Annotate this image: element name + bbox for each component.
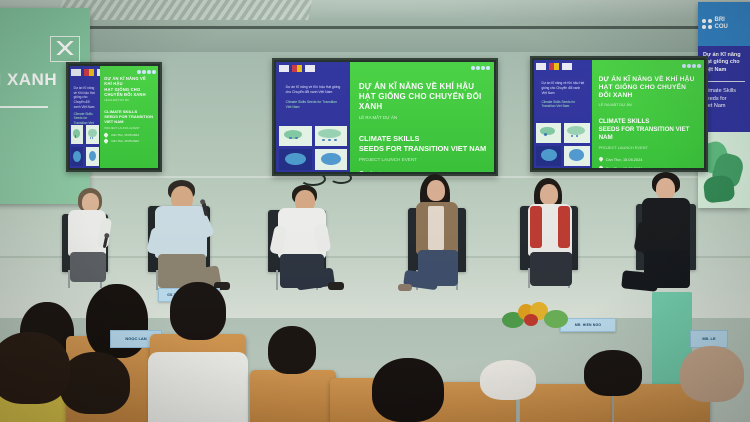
display-screen-1: Dự án Kĩ năng về Khí hậu Hạt giống cho C… — [66, 62, 162, 172]
cable — [300, 172, 326, 186]
slide1-title-en-2: SEEDS FOR TRANSITION VIET NAM — [104, 114, 154, 124]
banner-right-en-1: Climate Skills — [703, 88, 745, 95]
banner-right-en-2: Seeds for — [703, 96, 745, 103]
slide3-title-vi-2: HẠT GIỐNG CHO CHUYỂN ĐỔI XANH — [599, 84, 699, 100]
pin-icon — [358, 170, 365, 172]
wall-seam — [0, 176, 750, 178]
nameplate-audience-1-text: NGỌC LAN — [125, 337, 146, 342]
slide2-title-en-2: SEEDS FOR TRANSITION VIET NAM — [359, 144, 488, 154]
audience-chair — [250, 370, 336, 422]
slide3-title-vi-1: DỰ ÁN KĨ NĂNG VỀ KHÍ HẬU — [599, 76, 699, 84]
british-council-dots-icon — [702, 19, 712, 29]
slide1-card-vi: Dự án Kĩ năng về Khí hậu Hạt giống cho C… — [74, 86, 97, 109]
audience-head — [268, 326, 316, 374]
partner-logo-icon — [50, 36, 80, 62]
slide2-card-vi: Dự án Kĩ năng về Khí hậu Hạt giống cho C… — [286, 85, 341, 95]
banner-right-en-3: Viet Nam — [703, 103, 745, 110]
audience-head — [480, 360, 536, 400]
soffit-shadow-line — [60, 26, 720, 29]
slide2-title-en-1: CLIMATE SKILLS — [359, 134, 488, 144]
slide2-date-1: Cần Thơ, 15.05.2024 — [367, 171, 411, 172]
bc-line-1: BRI — [715, 17, 728, 24]
slide3-card-en: Climate Skills Seeds for Transition Viet… — [541, 100, 584, 109]
slide1-date-1: Cần Thơ, 15.05.2024 — [111, 133, 138, 137]
slide3-date-2: Cần Thơ, 15.05.2024 — [606, 166, 643, 168]
audience-head — [170, 282, 226, 340]
audience-head — [372, 358, 444, 422]
slide3-date-1: Cần Thơ, 15.05.2024 — [606, 157, 643, 162]
display-screen-3: Dự án Kĩ năng về Khí hậu Hạt giống cho C… — [530, 56, 708, 172]
slide2-subtitle-vi: LỄ RA MẮT DỰ ÁN — [359, 115, 488, 120]
audience-foreground: NGỌC LAN MS. LE — [0, 272, 750, 422]
slide2-subtitle-en: PROJECT LAUNCH EVENT — [359, 157, 488, 162]
slide1-date-2: Cần Thơ, 15.05.2024 — [111, 139, 138, 143]
audience-body — [148, 352, 248, 422]
slide1-title-vi-2: HẠT GIỐNG CHO CHUYỂN ĐỔI XANH — [104, 87, 154, 97]
pin-icon — [598, 156, 604, 162]
banner-left-headline: ĐỔI XANH — [0, 70, 57, 90]
british-council-wordmark: BRI COU — [715, 17, 728, 30]
slide1-subtitle-en: PROJECT LAUNCH EVENT — [104, 126, 154, 130]
pin-icon — [598, 165, 604, 168]
slide3-title-en-1: CLIMATE SKILLS — [599, 118, 699, 126]
audience-head — [680, 346, 744, 402]
slide1-title-vi-1: DỰ ÁN KĨ NĂNG VỀ KHÍ HẬU — [104, 76, 154, 86]
bc-line-2: COU — [715, 24, 728, 31]
british-council-logo: BRI COU — [698, 2, 750, 46]
nameplate-audience-2-text: MS. LE — [702, 337, 715, 342]
slide2-card-en: Climate Skills Seeds for Transition Viet… — [286, 100, 341, 110]
slide2-title-vi-2: HẠT GIỐNG CHO CHUYỂN ĐỔI XANH — [359, 92, 488, 112]
audience-head — [584, 350, 642, 396]
slide3-subtitle-en: PROJECT LAUNCH EVENT — [599, 145, 699, 150]
conference-photo: ĐỔI XANH AM BRI COU Dự án Kĩ năng Hạt gi… — [0, 0, 750, 422]
banner-right-vi-2: Hạt giống cho — [703, 59, 745, 66]
slide2-title-vi-1: DỰ ÁN KĨ NĂNG VỀ KHÍ HẬU — [359, 82, 488, 92]
banner-left-rule — [0, 106, 48, 108]
audience-head — [60, 352, 130, 414]
slide1-subtitle-vi: LỄ RA MẮT DỰ ÁN — [104, 98, 154, 102]
audience-head — [0, 332, 70, 404]
slide3-title-en-2: SEEDS FOR TRANSITION VIET NAM — [599, 126, 699, 142]
cable — [330, 172, 352, 184]
slide3-subtitle-vi: LỄ RA MẮT DỰ ÁN — [599, 103, 699, 107]
ceiling-grille — [58, 0, 313, 22]
display-screen-2: Dự án Kĩ năng về Khí hậu Hạt giống cho C… — [272, 58, 498, 176]
pin-icon — [103, 132, 109, 138]
pin-icon — [103, 138, 109, 144]
banner-right-vi-3: Việt Nam — [703, 67, 745, 74]
slide3-card-vi: Dự án Kĩ năng về Khí hậu Hạt giống cho C… — [541, 81, 584, 95]
